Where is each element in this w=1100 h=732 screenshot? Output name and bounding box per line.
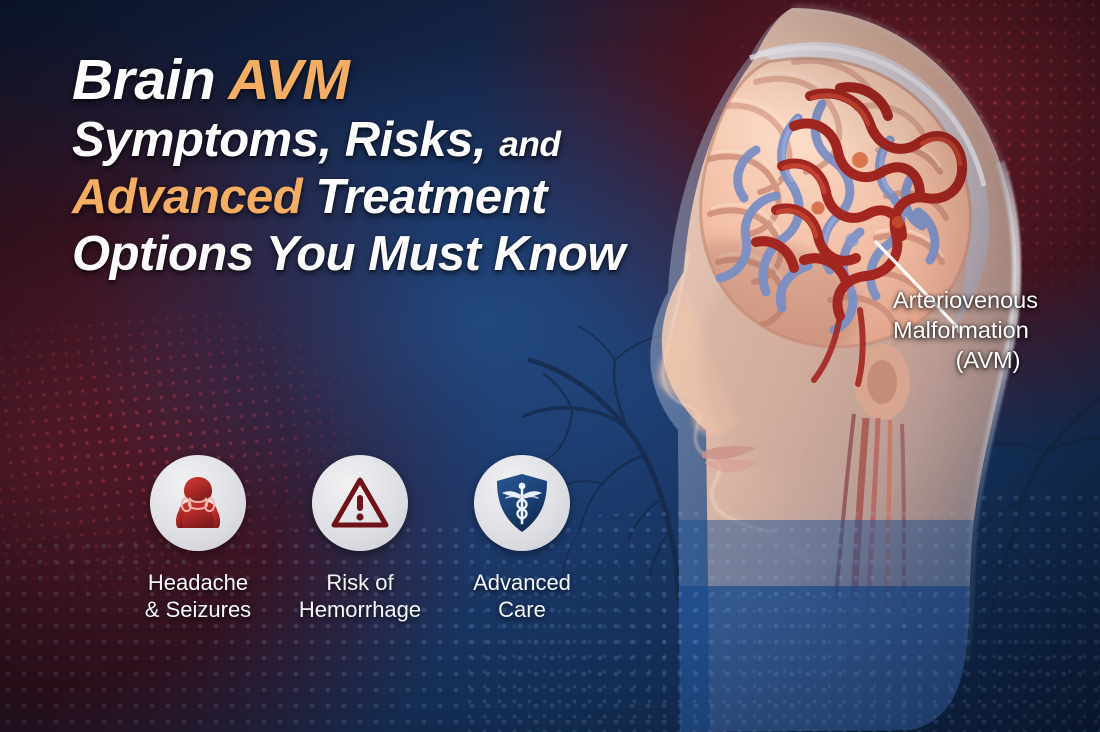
shield-caduceus-icon [493,471,551,535]
callout-line-1: Arteriovenous [893,285,1083,315]
icon-label-2-line1: Risk of [280,570,440,597]
icon-item-advanced-care[interactable]: Advanced Care [442,455,602,624]
icon-row: Headache & Seizures Risk of Hemorrhage [118,455,618,650]
icon-label-2: Risk of Hemorrhage [280,570,440,624]
headline-line4-part1: Options [72,227,266,281]
headline-line-1: Brain AVM [72,52,632,109]
callout-line-3: (AVM) [893,345,1083,375]
icon-item-risk-hemorrhage[interactable]: Risk of Hemorrhage [280,455,440,624]
headline-line4-part2: You Must Know [266,227,625,281]
icon-label-3: Advanced Care [442,570,602,624]
headline-line3-part2: Treatment [315,170,547,224]
callout-line-2: Malformation [893,315,1083,345]
icon-item-headache-seizures[interactable]: Headache & Seizures [118,455,278,624]
warning-triangle-icon [330,475,390,531]
icon-circle-2 [312,455,408,551]
headline-line-2: Symptoms, Risks, and [72,116,632,165]
icon-circle-3 [474,455,570,551]
person-holding-head-icon [167,472,229,534]
icon-circle-1 [150,455,246,551]
avm-callout-label: Arteriovenous Malformation (AVM) [893,285,1083,375]
headline: Brain AVM Symptoms, Risks, and Advanced … [72,52,632,279]
icon-label-1-line1: Headache [118,570,278,597]
icon-label-2-line2: Hemorrhage [280,597,440,624]
headline-line1-part2: AVM [228,48,349,112]
icon-label-3-line1: Advanced [442,570,602,597]
headline-line1-part1: Brain [72,48,228,112]
headline-line3-part1: Advanced [72,170,315,224]
headline-line2-part1: Symptoms, Risks, [72,113,499,167]
headline-line-3: Advanced Treatment [72,173,632,222]
headline-line2-part2: and [499,125,560,164]
icon-label-1-line2: & Seizures [118,597,278,624]
avm-infographic-poster: Brain AVM Symptoms, Risks, and Advanced … [0,0,1100,732]
icon-label-3-line2: Care [442,597,602,624]
headline-line-4: Options You Must Know [72,230,632,279]
icon-label-1: Headache & Seizures [118,570,278,624]
